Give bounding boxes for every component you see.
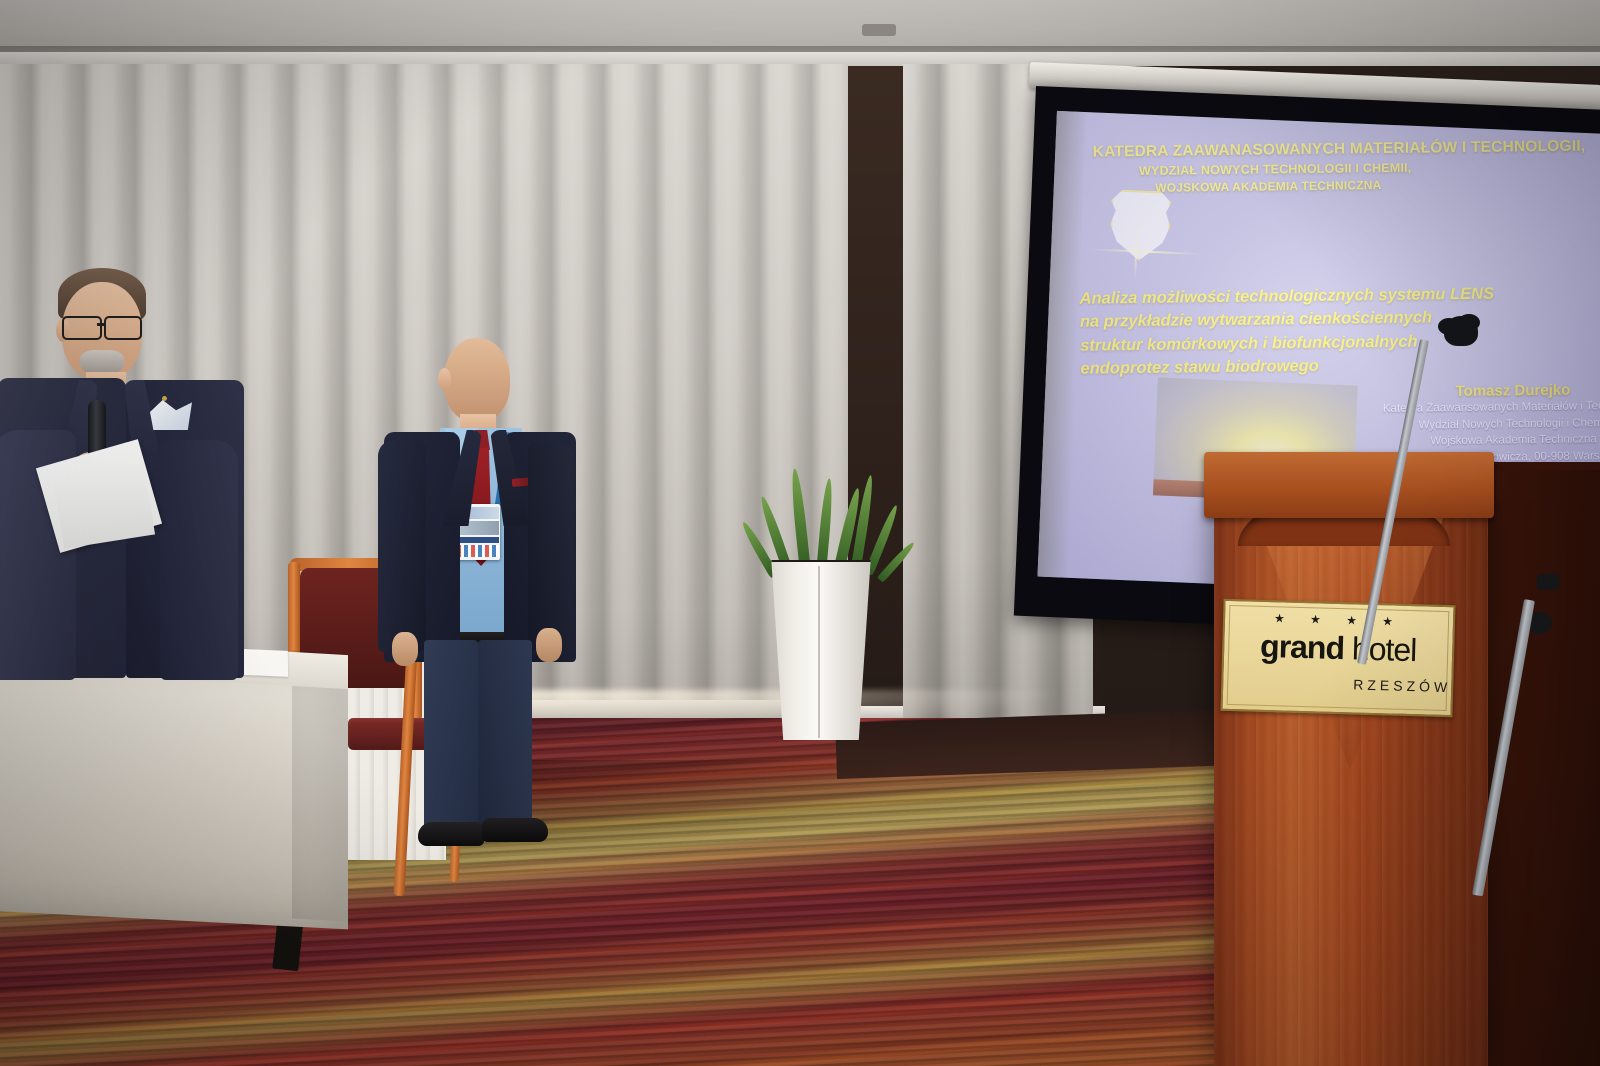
grand-hotel-plaque: ★ ★ ★ ★ grand hotel RZESZÓW xyxy=(1220,599,1455,717)
lectern-wood-grain xyxy=(1214,500,1488,1066)
presenter-trouser-left xyxy=(424,640,478,842)
presenter-left-hand xyxy=(392,632,418,666)
presenter-ear xyxy=(438,368,451,390)
slide-header: KATEDRA ZAAWANASOWANYCH MATERIAŁÓW I TEC… xyxy=(1093,137,1600,196)
eyeglasses-left-lens xyxy=(62,316,102,340)
presenter-left-sleeve xyxy=(378,440,426,652)
lectern-top-surface xyxy=(1204,452,1494,518)
presenter-right-hand xyxy=(536,628,562,662)
lapel-pin xyxy=(162,396,167,401)
microphone-wing-left xyxy=(1438,318,1460,335)
planter-corner-edge xyxy=(818,566,820,738)
eyeglasses-right-lens xyxy=(104,316,142,340)
speaker-papers-second-sheet xyxy=(53,463,155,549)
slide-header-line2: WYDZIAŁ NOWYCH TECHNOLOGII I CHEMII, xyxy=(1139,158,1600,178)
speaker-right-sleeve xyxy=(160,440,238,680)
presenter-shoe-right xyxy=(482,818,548,842)
slide-header-line1: KATEDRA ZAAWANASOWANYCH MATERIAŁÓW I TEC… xyxy=(1093,137,1600,162)
badge-sponsor-logos xyxy=(457,545,499,557)
conference-presentation-photo: KATEDRA ZAAWANASOWANYCH MATERIAŁÓW I TEC… xyxy=(0,0,1600,1066)
ceiling-vent xyxy=(862,24,896,36)
eyeglasses-bridge xyxy=(97,323,106,326)
presenter-shoe-left xyxy=(418,822,484,846)
slide-header-line3: WOJSKOWA AKADEMIA TECHNICZNA xyxy=(1155,175,1600,195)
mic-stand-clamp-upper[interactable] xyxy=(1537,574,1559,590)
slide-title: Analiza możliwości technologicznych syst… xyxy=(1079,281,1600,382)
plaque-venue-name: grand hotel xyxy=(1224,627,1453,670)
table-skirt-fold xyxy=(292,651,348,922)
presenter-head xyxy=(444,338,510,422)
presenter-right-sleeve xyxy=(528,442,574,650)
badge-blue-bar xyxy=(457,537,499,543)
lectern-front-panel xyxy=(1214,500,1488,1066)
presenter-trouser-right xyxy=(478,640,532,836)
microphone-wing-right xyxy=(1458,314,1480,331)
